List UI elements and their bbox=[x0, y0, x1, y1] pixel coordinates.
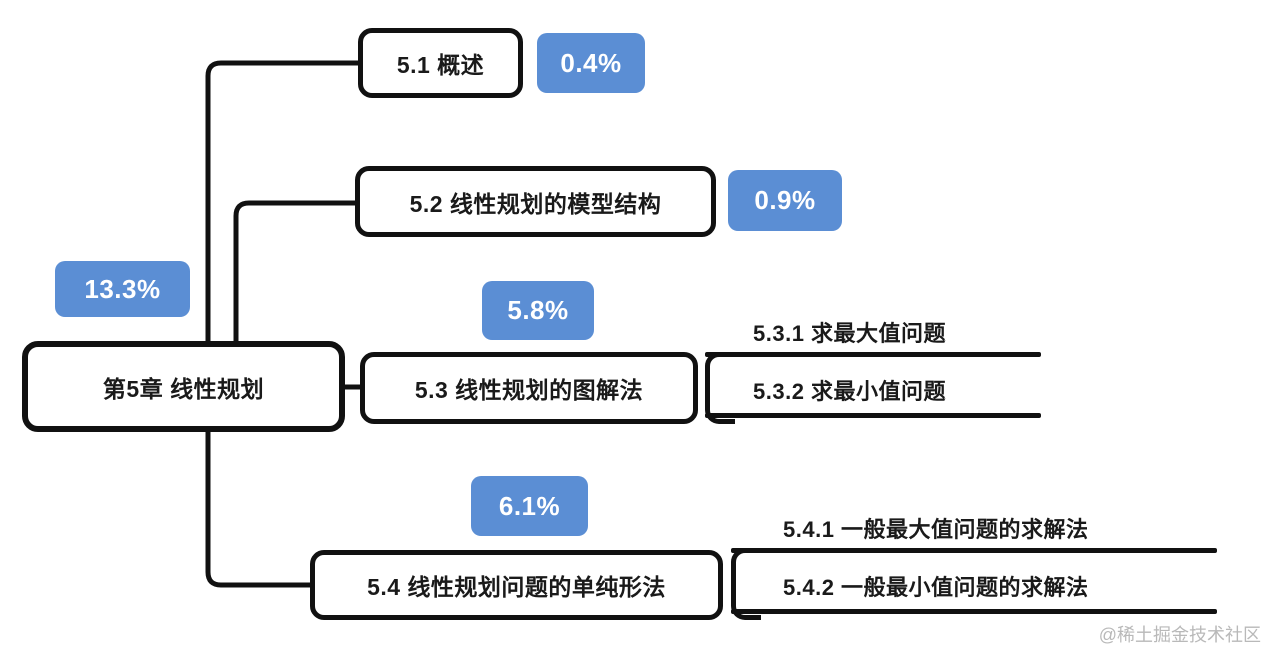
badge-root-percent: 13.3% bbox=[55, 261, 190, 317]
subgroup-5-4: 5.4.1 一般最大值问题的求解法 5.4.2 一般最小值问题的求解法 bbox=[731, 503, 1221, 620]
sub-item-5-4-1-label: 5.4.1 一般最大值问题的求解法 bbox=[783, 512, 1089, 544]
badge-5-3-percent: 5.8% bbox=[482, 281, 594, 340]
link-root-to-5-1 bbox=[208, 63, 358, 341]
watermark: @稀土掘金技术社区 bbox=[1099, 621, 1261, 647]
link-root-to-5-2 bbox=[236, 203, 355, 341]
node-5-1[interactable]: 5.1 概述 bbox=[358, 28, 523, 98]
sub-item-5-4-2-rule bbox=[731, 609, 1217, 614]
sub-item-5-3-2-label: 5.3.2 求最小值问题 bbox=[753, 374, 946, 406]
node-root[interactable]: 第5章 线性规划 bbox=[22, 341, 345, 432]
sub-item-5-4-2[interactable]: 5.4.2 一般最小值问题的求解法 bbox=[731, 558, 1217, 614]
sub-item-5-4-1[interactable]: 5.4.1 一般最大值问题的求解法 bbox=[731, 503, 1217, 553]
node-5-2[interactable]: 5.2 线性规划的模型结构 bbox=[355, 166, 716, 237]
node-5-3[interactable]: 5.3 线性规划的图解法 bbox=[360, 352, 698, 424]
sub-item-5-3-1-label: 5.3.1 求最大值问题 bbox=[753, 316, 946, 348]
badge-5-1-percent: 0.4% bbox=[537, 33, 645, 93]
mindmap-canvas: 第5章 线性规划 13.3% 5.1 概述 0.4% 5.2 线性规划的模型结构… bbox=[0, 0, 1269, 651]
node-5-4[interactable]: 5.4 线性规划问题的单纯形法 bbox=[310, 550, 723, 620]
sub-item-5-3-2-rule bbox=[705, 413, 1041, 418]
badge-5-2-percent: 0.9% bbox=[728, 170, 842, 231]
badge-5-4-percent: 6.1% bbox=[471, 476, 588, 536]
subgroup-5-3: 5.3.1 求最大值问题 5.3.2 求最小值问题 bbox=[705, 307, 1045, 424]
link-root-to-5-4 bbox=[208, 432, 310, 585]
sub-item-5-3-1-rule bbox=[705, 352, 1041, 357]
sub-item-5-3-2[interactable]: 5.3.2 求最小值问题 bbox=[705, 362, 1041, 418]
sub-item-5-4-2-label: 5.4.2 一般最小值问题的求解法 bbox=[783, 570, 1089, 602]
sub-item-5-4-1-rule bbox=[731, 548, 1217, 553]
sub-item-5-3-1[interactable]: 5.3.1 求最大值问题 bbox=[705, 307, 1041, 357]
